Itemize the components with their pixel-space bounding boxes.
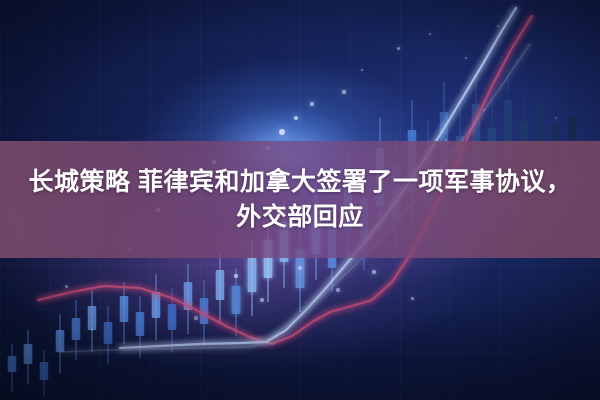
candlestick — [56, 314, 65, 374]
candlestick-body — [40, 362, 49, 380]
candlestick — [152, 274, 161, 340]
headline-line-1: 长城策略 菲律宾和加拿大签署了一项军事协议， — [29, 165, 572, 200]
candlestick — [184, 264, 193, 334]
headline-banner: 长城策略 菲律宾和加拿大签署了一项军事协议， 外交部回应 — [0, 141, 600, 258]
candlestick — [232, 268, 241, 336]
candlestick-body — [56, 330, 65, 352]
candlestick — [40, 350, 49, 396]
candlestick-body — [120, 296, 129, 322]
candlestick — [120, 282, 129, 344]
candlestick-body — [232, 286, 241, 314]
candlestick-body — [8, 356, 17, 372]
candlestick — [24, 330, 33, 384]
candlestick-body — [136, 312, 145, 336]
candlestick — [216, 252, 225, 324]
candlestick-body — [104, 322, 113, 344]
candlestick-body — [88, 306, 97, 330]
candlestick-body — [72, 318, 81, 340]
candlestick — [88, 290, 97, 352]
news-thumbnail-image: 长城策略 菲律宾和加拿大签署了一项军事协议， 外交部回应 — [0, 0, 600, 400]
candlestick-body — [200, 298, 209, 324]
headline-line-2: 外交部回应 — [236, 200, 364, 235]
candlestick-body — [216, 270, 225, 300]
candlestick-body — [152, 292, 161, 318]
candlestick-body — [168, 304, 177, 330]
candlestick-body — [248, 258, 257, 292]
candlestick-body — [24, 344, 33, 364]
candlestick — [8, 344, 17, 392]
candlestick — [104, 306, 113, 364]
